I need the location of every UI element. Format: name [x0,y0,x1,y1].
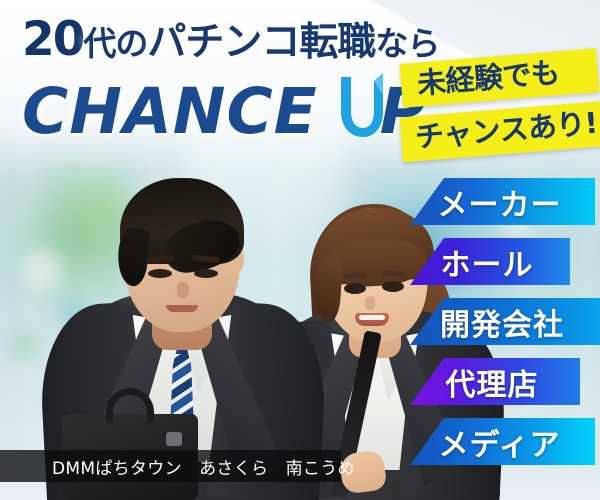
credit-text: DMMぱちタウン あさくら 南こうめ [52,454,355,479]
category-button-agency[interactable]: 代理店 [410,358,580,405]
headline-prefix: 代の [83,24,147,63]
category-list: メーカー ホール 開発会社 代理店 メディア [410,178,600,465]
logo-u-glyph-icon [336,67,380,133]
chance-up-banner: 20代のパチンコ転職なら CHANCE P 未経験でも チャンスあり! メーカー… [0,0,600,500]
female-eye-right [382,281,404,292]
male-eye-right [194,269,218,278]
female-eye-left [344,283,366,294]
headline-number: 20 [22,12,83,67]
category-button-developer[interactable]: 開発会社 [410,298,600,345]
female-nose [365,296,375,310]
male-nose [177,282,189,298]
male-briefcase-clasp [166,432,182,446]
category-button-hall[interactable]: ホール [410,238,570,285]
female-teeth [359,315,385,320]
headline-text: 20代のパチンコ転職なら [22,16,442,63]
badge-inexperienced-ok: 未経験でも [400,48,600,108]
highlight-badges: 未経験でも チャンスあり! [401,56,600,155]
chance-up-logo: CHANCE P [22,67,442,143]
badge-chance-available: チャンスあり! [400,101,600,163]
headline-block: 20代のパチンコ転職なら CHANCE P [22,16,442,143]
male-mouth [166,305,198,312]
male-model [48,160,316,500]
male-eye-left [148,269,172,278]
category-button-maker[interactable]: メーカー [410,178,595,225]
logo-chance-text: CHANCE [22,80,318,143]
headline-main: パチンコ転職 [147,20,375,65]
category-button-media[interactable]: メディア [410,418,595,465]
credit-bar: DMMぱちタウン あさくら 南こうめ [0,450,341,482]
